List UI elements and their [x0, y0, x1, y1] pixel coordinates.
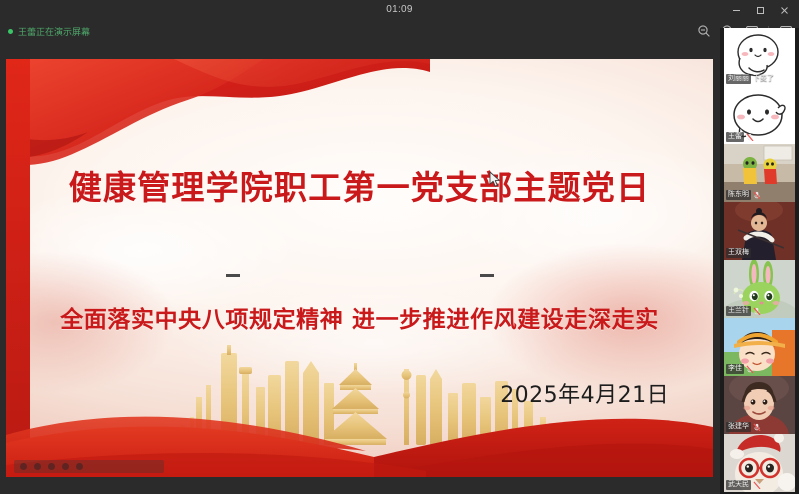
participant-name: 武天民 [726, 480, 751, 490]
mic-muted-icon [753, 423, 761, 432]
participant-name-bar: 李佳 [726, 364, 754, 374]
ghost-icon-4 [62, 463, 69, 470]
ghost-icon-3 [48, 463, 55, 470]
mic-muted-icon [753, 307, 761, 316]
participant-tile[interactable]: 李佳 [724, 318, 795, 376]
presenting-status-label: 王蕾正在演示屏幕 [18, 25, 90, 38]
presenting-indicator-dot [8, 29, 13, 34]
window-controls [725, 0, 795, 20]
mic-muted-icon [753, 191, 761, 200]
close-button[interactable] [773, 1, 795, 19]
participant-tile[interactable]: 王兰针 [724, 260, 795, 318]
participant-name: 陈东明 [726, 190, 751, 200]
participant-name-bar: 陈东明 [726, 190, 761, 200]
slide-subtitle: 全面落实中央八项规定精神 进一步推进作风建设走深走实 [6, 300, 713, 334]
participant-status: 下麦了 [753, 74, 774, 84]
presentation-slide: 健康管理学院职工第一党支部主题党日 全面落实中央八项规定精神 进一步推进作风建设… [6, 59, 713, 477]
participant-name: 张建华 [726, 422, 751, 432]
ghost-icon-2 [34, 463, 41, 470]
meeting-timer: 01:09 [0, 0, 799, 20]
participant-name-bar: 王双梅 [726, 248, 751, 258]
slide-title: 健康管理学院职工第一党支部主题党日 [6, 161, 713, 209]
participant-tile[interactable]: 王双梅 [724, 202, 795, 260]
presenting-status: 王蕾正在演示屏幕 [8, 20, 90, 42]
presentation-toolbar: 王蕾正在演示屏幕 [0, 20, 799, 42]
meeting-window: 01:09 王蕾正在演示屏幕 [0, 0, 799, 494]
participant-tile[interactable]: 陈东明 [724, 144, 795, 202]
divider-dash-left [226, 274, 240, 277]
mic-muted-icon [746, 365, 754, 374]
participant-name-bar: 王兰针 [726, 306, 761, 316]
participant-name-bar: 刘丽丽 下麦了 [726, 74, 774, 84]
mouse-cursor [489, 171, 501, 188]
slide-embedded-toolbar [14, 460, 164, 473]
participant-rail[interactable]: 刘丽丽 下麦了 王蕾 [720, 28, 799, 494]
participant-tile[interactable]: 张建华 [724, 376, 795, 434]
participant-name: 王蕾 [726, 132, 744, 142]
zoom-out-icon[interactable] [696, 24, 711, 39]
participant-tile[interactable]: 王蕾 [724, 86, 795, 144]
mic-muted-icon [753, 481, 761, 490]
participant-name: 李佳 [726, 364, 744, 374]
participant-tile[interactable]: 刘丽丽 下麦了 [724, 28, 795, 86]
participant-tile[interactable]: 武天民 [724, 434, 795, 492]
maximize-button[interactable] [749, 1, 771, 19]
title-bar: 01:09 [0, 0, 799, 20]
participant-name: 王兰针 [726, 306, 751, 316]
participant-name-bar: 武天民 [726, 480, 761, 490]
participant-name: 刘丽丽 [726, 74, 751, 84]
participant-name-bar: 张建华 [726, 422, 761, 432]
minimize-button[interactable] [725, 1, 747, 19]
slide-date: 2025年4月21日 [500, 377, 669, 409]
slide-divider-dashes [6, 274, 713, 277]
shared-screen-stage: 健康管理学院职工第一党支部主题党日 全面落实中央八项规定精神 进一步推进作风建设… [0, 42, 720, 494]
participant-name: 王双梅 [726, 248, 751, 258]
ghost-icon-5 [76, 463, 83, 470]
divider-dash-right [480, 274, 494, 277]
mic-muted-icon [746, 133, 754, 142]
ghost-icon-1 [20, 463, 27, 470]
participant-name-bar: 王蕾 [726, 132, 754, 142]
